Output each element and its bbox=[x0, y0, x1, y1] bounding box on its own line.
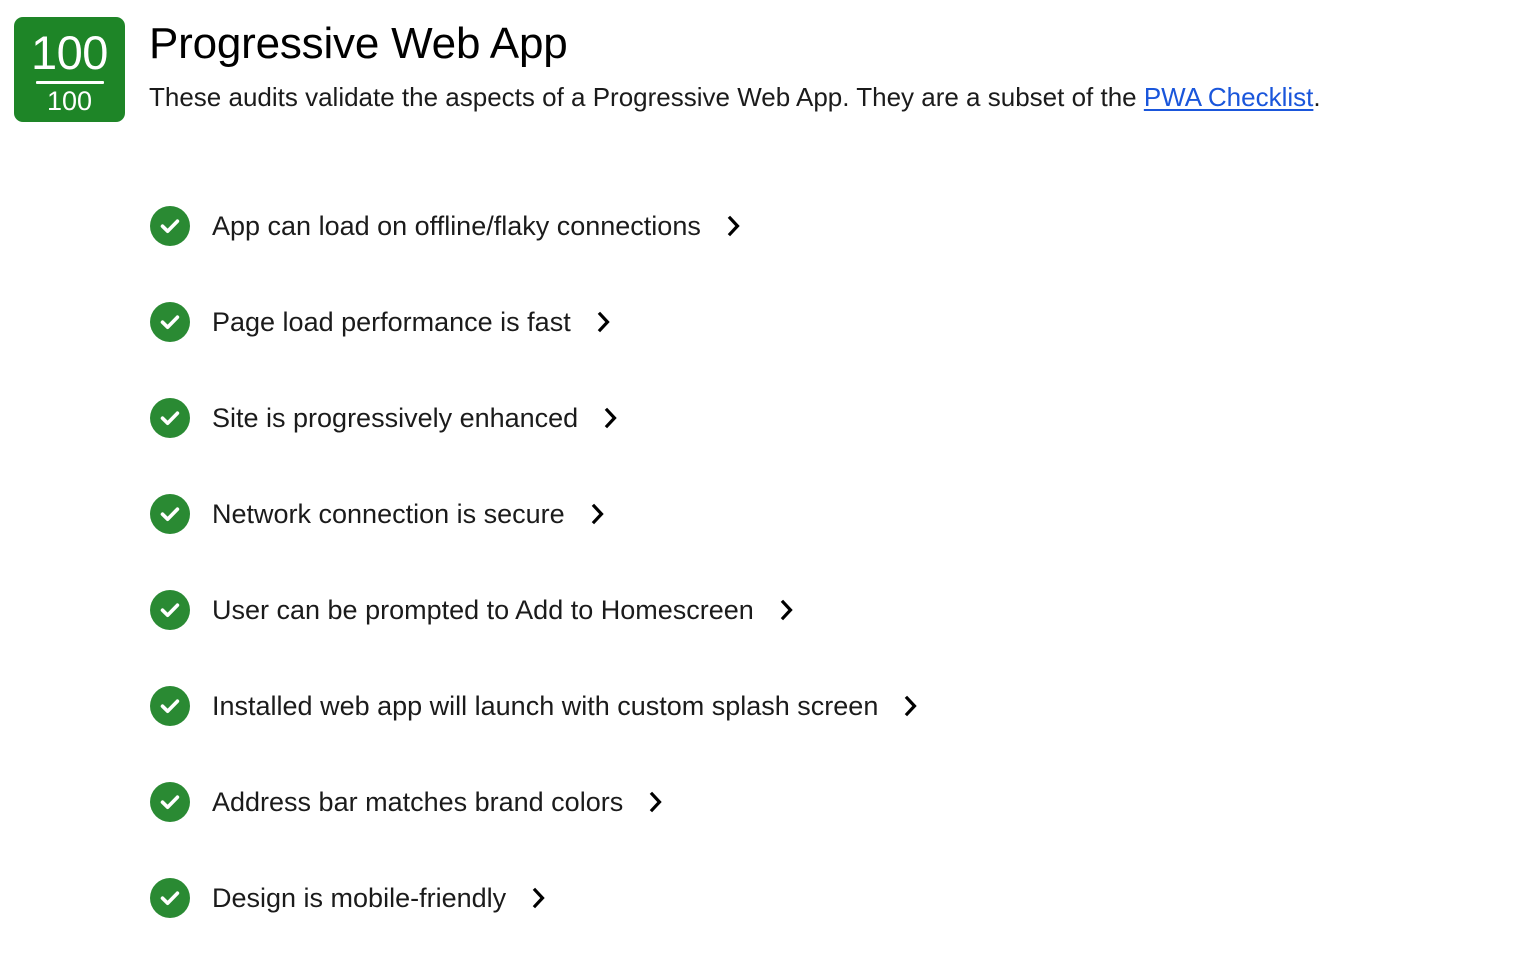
pwa-report-section: 100 100 Progressive Web App These audits… bbox=[0, 0, 1538, 958]
header-text-block: Progressive Web App These audits validat… bbox=[149, 16, 1518, 114]
audit-row[interactable]: App can load on offline/flaky connection… bbox=[0, 178, 1538, 274]
check-circle-icon bbox=[150, 782, 190, 822]
audit-title: Address bar matches brand colors bbox=[212, 785, 623, 819]
chevron-right-icon[interactable] bbox=[593, 305, 615, 339]
check-circle-icon bbox=[150, 398, 190, 438]
chevron-right-icon[interactable] bbox=[645, 785, 667, 819]
score-divider bbox=[36, 81, 104, 84]
score-value: 100 bbox=[31, 28, 108, 78]
chevron-right-icon[interactable] bbox=[528, 881, 550, 915]
description-text-after: . bbox=[1313, 82, 1320, 112]
audit-title: Design is mobile-friendly bbox=[212, 881, 506, 915]
score-max-value: 100 bbox=[47, 86, 92, 116]
chevron-right-icon[interactable] bbox=[723, 209, 745, 243]
audit-row[interactable]: Page load performance is fast bbox=[0, 274, 1538, 370]
audit-row[interactable]: Design is mobile-friendly bbox=[0, 850, 1538, 946]
audit-title: Installed web app will launch with custo… bbox=[212, 689, 878, 723]
chevron-right-icon[interactable] bbox=[776, 593, 798, 627]
pwa-score-badge: 100 100 bbox=[14, 17, 125, 122]
check-circle-icon bbox=[150, 302, 190, 342]
page-title: Progressive Web App bbox=[149, 16, 1518, 72]
check-circle-icon bbox=[150, 878, 190, 918]
audit-title: App can load on offline/flaky connection… bbox=[212, 209, 701, 243]
chevron-right-icon[interactable] bbox=[600, 401, 622, 435]
description-text-before: These audits validate the aspects of a P… bbox=[149, 82, 1144, 112]
check-circle-icon bbox=[150, 494, 190, 534]
audit-row[interactable]: Network connection is secure bbox=[0, 466, 1538, 562]
audit-title: User can be prompted to Add to Homescree… bbox=[212, 593, 754, 627]
audit-row[interactable]: Site is progressively enhanced bbox=[0, 370, 1538, 466]
audit-title: Page load performance is fast bbox=[212, 305, 571, 339]
audit-row[interactable]: Address bar matches brand colors bbox=[0, 754, 1538, 850]
report-header: 100 100 Progressive Web App These audits… bbox=[0, 0, 1538, 150]
page-description: These audits validate the aspects of a P… bbox=[149, 80, 1518, 114]
check-circle-icon bbox=[150, 590, 190, 630]
pwa-checklist-link[interactable]: PWA Checklist bbox=[1144, 82, 1314, 112]
audit-title: Network connection is secure bbox=[212, 497, 565, 531]
chevron-right-icon[interactable] bbox=[587, 497, 609, 531]
check-circle-icon bbox=[150, 206, 190, 246]
check-circle-icon bbox=[150, 686, 190, 726]
audit-row[interactable]: User can be prompted to Add to Homescree… bbox=[0, 562, 1538, 658]
chevron-right-icon[interactable] bbox=[900, 689, 922, 723]
audit-row[interactable]: Installed web app will launch with custo… bbox=[0, 658, 1538, 754]
audit-list: App can load on offline/flaky connection… bbox=[0, 178, 1538, 946]
audit-title: Site is progressively enhanced bbox=[212, 401, 578, 435]
